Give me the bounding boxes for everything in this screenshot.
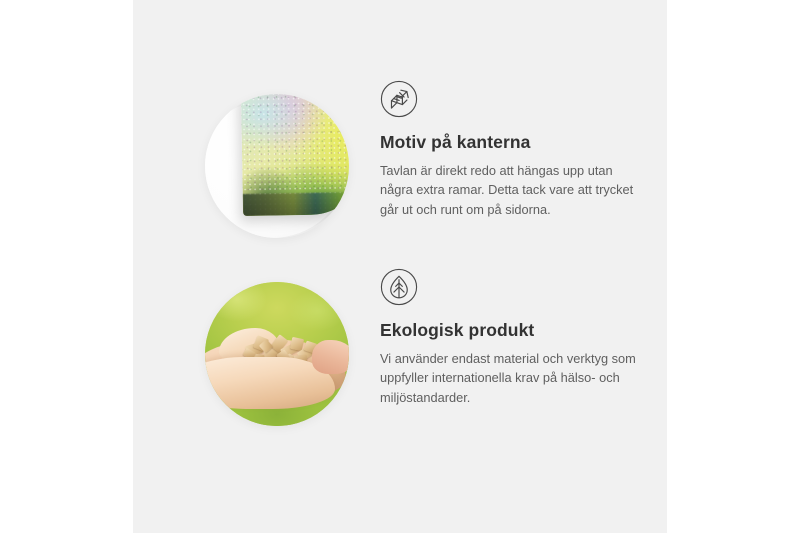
- feature-row-ekologisk-produkt: Ekologisk produkt Vi använder endast mat…: [133, 268, 667, 448]
- canvas-wrapped-edges-icon: [380, 80, 418, 118]
- feature-description: Vi använder endast material och verktyg …: [380, 349, 648, 407]
- content-panel: Motiv på kanterna Tavlan är direkt redo …: [133, 0, 667, 533]
- canvas-edge-shadow: [243, 187, 349, 216]
- feature-row-motiv-pa-kanterna: Motiv på kanterna Tavlan är direkt redo …: [133, 80, 667, 260]
- canvas-artwork: [241, 94, 349, 216]
- canvas-print-corner-photo: [205, 94, 349, 238]
- leaf-icon: [380, 268, 418, 306]
- feature-text-block: Motiv på kanterna Tavlan är direkt redo …: [380, 80, 670, 219]
- product-feature-banner: Motiv på kanterna Tavlan är direkt redo …: [0, 0, 800, 533]
- feature-description: Tavlan är direkt redo att hängas upp uta…: [380, 161, 648, 219]
- feature-title: Ekologisk produkt: [380, 320, 670, 341]
- hands-holding-wood-chips-photo: [205, 282, 349, 426]
- feature-title: Motiv på kanterna: [380, 132, 670, 153]
- fingers: [312, 340, 349, 375]
- feature-text-block: Ekologisk produkt Vi använder endast mat…: [380, 268, 670, 407]
